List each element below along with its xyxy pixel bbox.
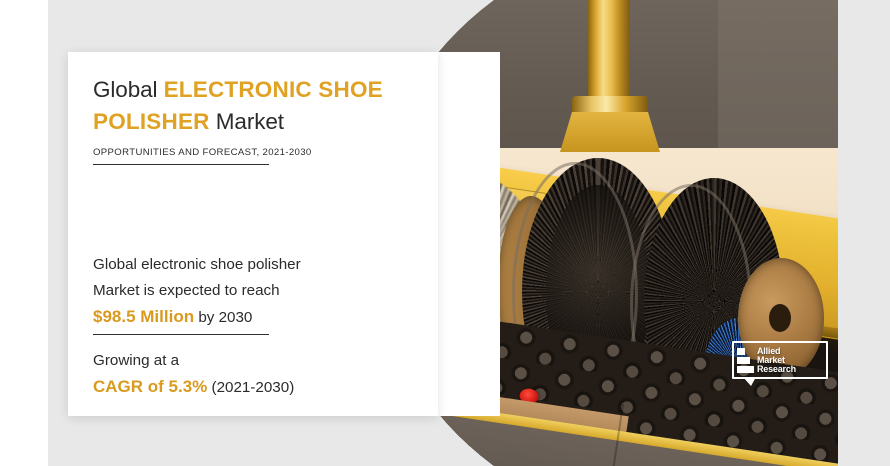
market-size-line-3: $98.5 Million by 2030: [93, 304, 393, 331]
title-highlight-2: POLISHER: [93, 109, 210, 134]
title-trail: Market: [210, 109, 284, 134]
divider-top: [93, 164, 269, 165]
market-size-statistic: Global electronic shoe polisher Market i…: [93, 252, 393, 331]
content-card: Global ELECTRONIC SHOE POLISHER Market O…: [68, 52, 438, 416]
speech-bubble-icon: Allied Market Research: [732, 341, 828, 379]
bar-chart-icon: [737, 348, 754, 373]
market-size-value: $98.5 Million: [93, 307, 194, 326]
growth-line-2: CAGR of 5.3% (2021-2030): [93, 374, 393, 401]
card-header: Global ELECTRONIC SHOE POLISHER Market O…: [93, 74, 420, 165]
growth-line-1: Growing at a: [93, 348, 393, 374]
allied-market-research-logo[interactable]: Allied Market Research: [732, 341, 828, 383]
infographic-root: Global ELECTRONIC SHOE POLISHER Market O…: [0, 0, 890, 466]
market-size-line-1: Global electronic shoe polisher: [93, 252, 393, 278]
cagr-value: CAGR of 5.3%: [93, 377, 207, 396]
growth-statistic: Growing at a CAGR of 5.3% (2021-2030): [93, 348, 393, 401]
page-subtitle: OPPORTUNITIES AND FORECAST, 2021-2030: [93, 147, 420, 158]
page-title: Global ELECTRONIC SHOE POLISHER Market: [93, 74, 393, 138]
photo-wall-right: [718, 0, 838, 170]
market-size-line-2: Market is expected to reach: [93, 278, 393, 304]
title-lead: Global: [93, 77, 164, 102]
logo-line-3: Research: [757, 365, 796, 374]
cagr-period: (2021-2030): [207, 379, 294, 396]
title-highlight-1: ELECTRONIC SHOE: [164, 77, 383, 102]
photo-machine-post-base: [560, 112, 660, 152]
market-size-year: by 2030: [194, 309, 252, 326]
logo-wordmark: Allied Market Research: [757, 347, 796, 374]
divider-middle: [93, 334, 269, 335]
